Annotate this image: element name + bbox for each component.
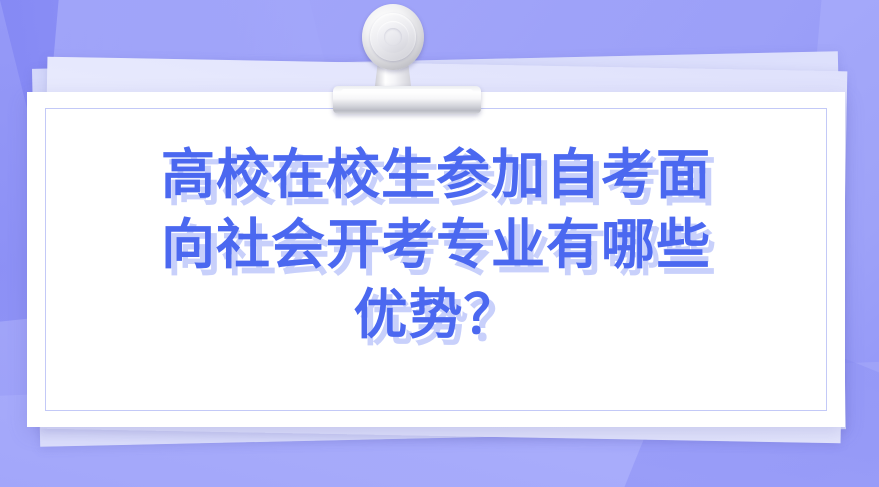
title-line-2: 向社会开考专业有哪些 (61, 210, 811, 280)
title-line-1: 高校在校生参加自考面 (61, 140, 811, 210)
title-card: 高校在校生参加自考面 向社会开考专业有哪些 优势？ (27, 92, 845, 427)
title-line-3: 优势？ (61, 280, 811, 350)
clip-knob-ring-inner (384, 28, 402, 46)
poster-title: 高校在校生参加自考面 向社会开考专业有哪些 优势？ (27, 140, 845, 350)
poster-canvas: 高校在校生参加自考面 向社会开考专业有哪些 优势？ (0, 0, 879, 487)
clip-bar (333, 86, 481, 114)
clip-bar-highlight (341, 89, 473, 95)
binder-clip-icon (330, 4, 482, 116)
clip-knob (362, 4, 424, 70)
